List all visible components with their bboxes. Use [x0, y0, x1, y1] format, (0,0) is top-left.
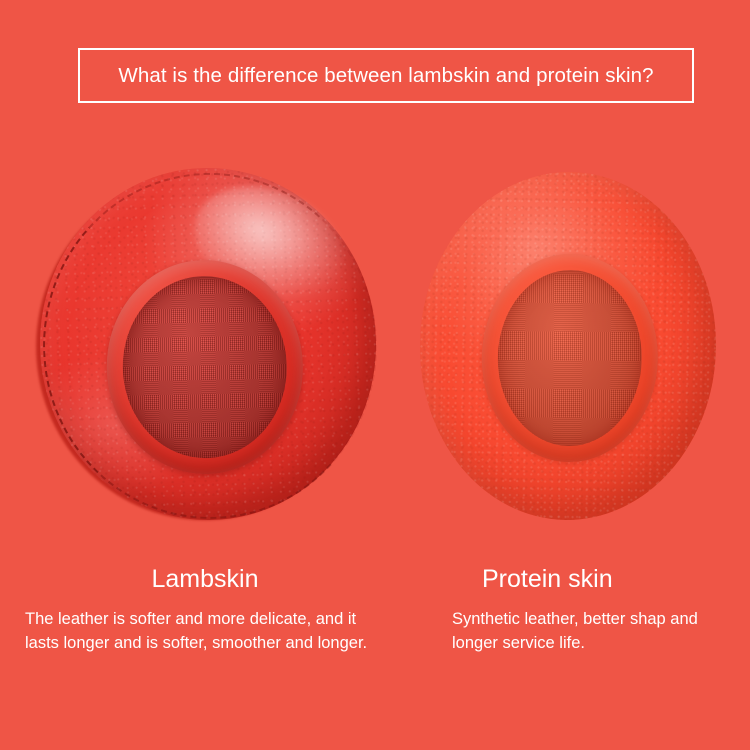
- protein-skin-caption: Protein skin Synthetic leather, better s…: [452, 565, 742, 655]
- lambskin-earpad-image: [34, 162, 382, 526]
- protein-skin-earpad-image: [417, 169, 719, 522]
- protein-skin-description: Synthetic leather, better shap and longe…: [452, 607, 742, 655]
- lambskin-caption: Lambskin The leather is softer and more …: [25, 565, 385, 655]
- protein-skin-heading: Protein skin: [452, 565, 742, 594]
- lambskin-description: The leather is softer and more delicate,…: [25, 607, 385, 655]
- product-comparison-images: [0, 0, 750, 560]
- lambskin-heading: Lambskin: [25, 565, 385, 594]
